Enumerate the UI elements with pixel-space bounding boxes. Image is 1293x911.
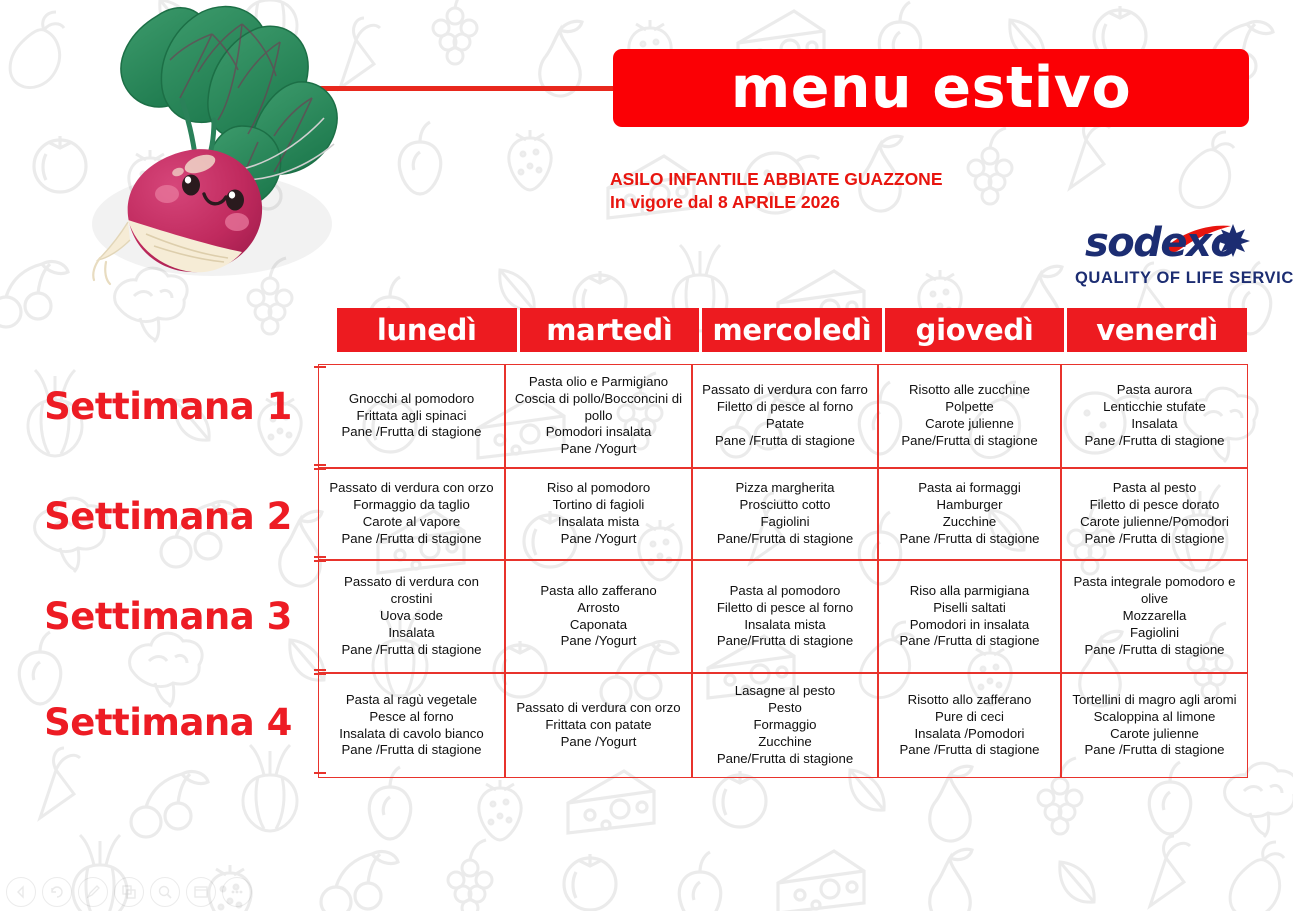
edge-tick (314, 464, 326, 466)
menu-item: Tortellini di magro agli aromi (1066, 692, 1243, 709)
menu-item: Prosciutto cotto (697, 497, 873, 514)
menu-item: Pomodori insalata (510, 424, 687, 441)
menu-item: Scaloppina al limone (1066, 709, 1243, 726)
menu-item: Pesto (697, 700, 873, 717)
week-label-3: Settimana 3 (18, 595, 318, 638)
menu-item: Insalata /Pomodori (883, 726, 1056, 743)
effective-date: In vigore dal 8 APRILE 2026 (610, 191, 943, 214)
menu-cell: Pasta al ragù vegetalePesce al fornoInsa… (318, 673, 505, 778)
sodexo-wordmark-group: sodexo (1075, 222, 1255, 268)
day-header-mercoledi: mercoledì (702, 308, 882, 352)
menu-cell-lines: Pasta olio e ParmigianoCoscia di pollo/B… (510, 374, 687, 458)
menu-cell-lines: Tortellini di magro agli aromiScaloppina… (1066, 692, 1243, 760)
menu-cell-lines: Lasagne al pestoPestoFormaggioZucchinePa… (697, 683, 873, 767)
menu-cell: Lasagne al pestoPestoFormaggioZucchinePa… (692, 673, 878, 778)
menu-cell-lines: Risotto alle zucchinePolpetteCarote juli… (883, 382, 1056, 450)
menu-cell: Risotto alle zucchinePolpetteCarote juli… (878, 364, 1061, 468)
menu-cell: Riso al pomodoroTortino di fagioliInsala… (505, 468, 692, 560)
menu-item: Fagiolini (697, 514, 873, 531)
menu-item: Frittata con patate (510, 717, 687, 734)
menu-item: Carote al vapore (323, 514, 500, 531)
menu-item: Frittata agli spinaci (323, 408, 500, 425)
edge-tick (314, 556, 326, 558)
day-header-giovedi: giovedì (885, 308, 1065, 352)
menu-item: Formaggio da taglio (323, 497, 500, 514)
school-name: ASILO INFANTILE ABBIATE GUAZZONE (610, 168, 943, 191)
menu-cell: Pasta al pestoFiletto di pesce doratoCar… (1061, 468, 1248, 560)
menu-item: Pane/Frutta di stagione (697, 633, 873, 650)
menu-item: Risotto allo zafferano (883, 692, 1056, 709)
menu-item: Carote julienne (1066, 726, 1243, 743)
edge-tick (314, 669, 326, 671)
menu-item: Passato di verdura con farro (697, 382, 873, 399)
menu-item: Lasagne al pesto (697, 683, 873, 700)
menu-cell: Gnocchi al pomodoroFrittata agli spinaci… (318, 364, 505, 468)
week-label-2: Settimana 2 (18, 495, 318, 538)
menu-item: Pane /Frutta di stagione (883, 742, 1056, 759)
menu-item: Pasta integrale pomodoro e olive (1066, 574, 1243, 608)
menu-item: Riso al pomodoro (510, 480, 687, 497)
menu-item: Pane/Frutta di stagione (697, 531, 873, 548)
menu-item: Fagiolini (1066, 625, 1243, 642)
menu-cell: Riso alla parmigianaPiselli saltatiPomod… (878, 560, 1061, 673)
more-icon[interactable] (222, 877, 252, 907)
menu-item: Pasta al ragù vegetale (323, 692, 500, 709)
menu-item: Zucchine (697, 734, 873, 751)
rotate-icon[interactable] (42, 877, 72, 907)
menu-item: Pane /Frutta di stagione (1066, 433, 1243, 450)
menu-item: Hamburger (883, 497, 1056, 514)
week-labels-column: Settimana 1 Settimana 2 Settimana 3 Sett… (18, 363, 318, 778)
menu-item: Pane /Frutta di stagione (323, 742, 500, 759)
window-icon[interactable] (186, 877, 216, 907)
menu-week-row: Pasta al ragù vegetalePesce al fornoInsa… (318, 673, 1248, 778)
menu-cell: Pizza margheritaProsciutto cottoFagiolin… (692, 468, 878, 560)
menu-item: Caponata (510, 617, 687, 634)
menu-item: Pane /Yogurt (510, 633, 687, 650)
menu-cell-lines: Pasta auroraLenticchie stufateInsalataPa… (1066, 382, 1243, 450)
menu-item: Pane /Frutta di stagione (883, 633, 1056, 650)
menu-cell-lines: Riso alla parmigianaPiselli saltatiPomod… (883, 583, 1056, 651)
week-label-4: Settimana 4 (18, 701, 318, 744)
menu-item: Pane /Frutta di stagione (1066, 531, 1243, 548)
edge-tick (314, 673, 326, 675)
menu-cell-lines: Pasta ai formaggiHamburgerZucchinePane /… (883, 480, 1056, 548)
menu-cell: Pasta integrale pomodoro e oliveMozzarel… (1061, 560, 1248, 673)
menu-item: Pane/Frutta di stagione (697, 751, 873, 768)
menu-cell: Pasta allo zafferanoArrostoCaponataPane … (505, 560, 692, 673)
bottom-toolbar[interactable] (6, 877, 252, 907)
edge-tick (314, 560, 326, 562)
menu-week-row: Passato di verdura con orzoFormaggio da … (318, 468, 1248, 560)
menu-item: Insalata (323, 625, 500, 642)
menu-cell: Passato di verdura con crostiniUova sode… (318, 560, 505, 673)
menu-item: Pane /Frutta di stagione (697, 433, 873, 450)
menu-cell-lines: Passato di verdura con farroFiletto di p… (697, 382, 873, 450)
week-label-1: Settimana 1 (18, 385, 318, 428)
sodexo-wordmark-text: sodexo (1085, 220, 1236, 266)
menu-item: Filetto di pesce al forno (697, 600, 873, 617)
zoom-icon[interactable] (150, 877, 180, 907)
menu-cell: Pasta auroraLenticchie stufateInsalataPa… (1061, 364, 1248, 468)
menu-item: Pane /Yogurt (510, 531, 687, 548)
menu-item: Pasta al pomodoro (697, 583, 873, 600)
menu-item: Pesce al forno (323, 709, 500, 726)
day-header-row: lunedì martedì mercoledì giovedì venerdì (337, 308, 1247, 352)
sodexo-logo: sodexo QUALITY OF LIFE SERVICES (1075, 222, 1255, 294)
menu-grid: Gnocchi al pomodoroFrittata agli spinaci… (318, 364, 1248, 778)
menu-week-row: Gnocchi al pomodoroFrittata agli spinaci… (318, 364, 1248, 468)
menu-item: Passato di verdura con orzo (510, 700, 687, 717)
title-connector-line (278, 86, 618, 91)
menu-item: Insalata (1066, 416, 1243, 433)
day-header-label: martedì (546, 313, 672, 347)
sodexo-tagline: QUALITY OF LIFE SERVICES (1075, 269, 1255, 288)
menu-item: Lenticchie stufate (1066, 399, 1243, 416)
menu-cell: Passato di verdura con farroFiletto di p… (692, 364, 878, 468)
menu-item: Polpette (883, 399, 1056, 416)
edge-tick (314, 366, 326, 368)
menu-cell-lines: Pasta al pestoFiletto di pesce doratoCar… (1066, 480, 1243, 548)
edge-tick (314, 772, 326, 774)
menu-cell: Passato di verdura con orzoFormaggio da … (318, 468, 505, 560)
menu-item: Tortino di fagioli (510, 497, 687, 514)
menu-item: Zucchine (883, 514, 1056, 531)
menu-item: Insalata mista (697, 617, 873, 634)
menu-cell-lines: Risotto allo zafferanoPure di ceciInsala… (883, 692, 1056, 760)
menu-cell: Tortellini di magro agli aromiScaloppina… (1061, 673, 1248, 778)
menu-cell-lines: Passato di verdura con orzoFrittata con … (510, 700, 687, 751)
menu-item: Mozzarella (1066, 608, 1243, 625)
menu-item: Pane /Frutta di stagione (1066, 742, 1243, 759)
menu-cell-lines: Passato di verdura con crostiniUova sode… (323, 574, 500, 658)
subtitle-block: ASILO INFANTILE ABBIATE GUAZZONE In vigo… (610, 168, 943, 215)
day-header-label: venerdì (1096, 313, 1218, 347)
menu-item: Carote julienne/Pomodori (1066, 514, 1243, 531)
menu-item: Arrosto (510, 600, 687, 617)
menu-item: Pane /Frutta di stagione (883, 531, 1056, 548)
copy-icon[interactable] (114, 877, 144, 907)
menu-item: Uova sode (323, 608, 500, 625)
back-arrow-icon[interactable] (6, 877, 36, 907)
menu-item: Filetto di pesce al forno (697, 399, 873, 416)
day-header-label: mercoledì (713, 313, 872, 347)
menu-cell: Pasta al pomodoroFiletto di pesce al for… (692, 560, 878, 673)
menu-cell: Pasta olio e ParmigianoCoscia di pollo/B… (505, 364, 692, 468)
menu-cell-lines: Pasta allo zafferanoArrostoCaponataPane … (510, 583, 687, 651)
menu-item: Pane/Frutta di stagione (883, 433, 1056, 450)
menu-item: Pasta ai formaggi (883, 480, 1056, 497)
menu-item: Carote julienne (883, 416, 1056, 433)
menu-item: Pane /Frutta di stagione (323, 531, 500, 548)
menu-item: Formaggio (697, 717, 873, 734)
menu-item: Patate (697, 416, 873, 433)
menu-week-row: Passato di verdura con crostiniUova sode… (318, 560, 1248, 673)
menu-title-banner: menu estivo (613, 49, 1249, 127)
menu-cell-lines: Passato di verdura con orzoFormaggio da … (323, 480, 500, 548)
menu-cell-lines: Riso al pomodoroTortino di fagioliInsala… (510, 480, 687, 548)
menu-item: Pasta aurora (1066, 382, 1243, 399)
day-header-lunedi: lunedì (337, 308, 517, 352)
menu-item: Pane /Yogurt (510, 734, 687, 751)
menu-item: Pasta al pesto (1066, 480, 1243, 497)
menu-item: Passato di verdura con crostini (323, 574, 500, 608)
menu-cell-lines: Pasta integrale pomodoro e oliveMozzarel… (1066, 574, 1243, 658)
day-header-label: lunedì (377, 313, 477, 347)
menu-item: Pomodori in insalata (883, 617, 1056, 634)
menu-cell: Pasta ai formaggiHamburgerZucchinePane /… (878, 468, 1061, 560)
menu-cell: Risotto allo zafferanoPure di ceciInsala… (878, 673, 1061, 778)
menu-item: Risotto alle zucchine (883, 382, 1056, 399)
menu-cell-lines: Pasta al ragù vegetalePesce al fornoInsa… (323, 692, 500, 760)
day-header-venerdi: venerdì (1067, 308, 1247, 352)
pen-icon[interactable] (78, 877, 108, 907)
menu-item: Gnocchi al pomodoro (323, 391, 500, 408)
menu-item: Piselli saltati (883, 600, 1056, 617)
menu-item: Pizza margherita (697, 480, 873, 497)
menu-item: Pane /Yogurt (510, 441, 687, 458)
radish-mascot-icon (62, 0, 382, 304)
page-title: menu estivo (731, 60, 1131, 117)
menu-cell-lines: Pizza margheritaProsciutto cottoFagiolin… (697, 480, 873, 548)
menu-item: Pane /Frutta di stagione (323, 642, 500, 659)
menu-item: Insalata di cavolo bianco (323, 726, 500, 743)
menu-item: Pane /Frutta di stagione (323, 424, 500, 441)
menu-item: Coscia di pollo/Bocconcini di pollo (510, 391, 687, 425)
menu-item: Pure di ceci (883, 709, 1056, 726)
menu-cell-lines: Gnocchi al pomodoroFrittata agli spinaci… (323, 391, 500, 442)
menu-item: Pasta allo zafferano (510, 583, 687, 600)
menu-cell: Passato di verdura con orzoFrittata con … (505, 673, 692, 778)
menu-item: Passato di verdura con orzo (323, 480, 500, 497)
day-header-martedi: martedì (520, 308, 700, 352)
menu-cell-lines: Pasta al pomodoroFiletto di pesce al for… (697, 583, 873, 651)
menu-item: Filetto di pesce dorato (1066, 497, 1243, 514)
menu-item: Pasta olio e Parmigiano (510, 374, 687, 391)
day-header-label: giovedì (916, 313, 1034, 347)
menu-item: Pane /Frutta di stagione (1066, 642, 1243, 659)
menu-item: Insalata mista (510, 514, 687, 531)
menu-item: Riso alla parmigiana (883, 583, 1056, 600)
edge-tick (314, 468, 326, 470)
